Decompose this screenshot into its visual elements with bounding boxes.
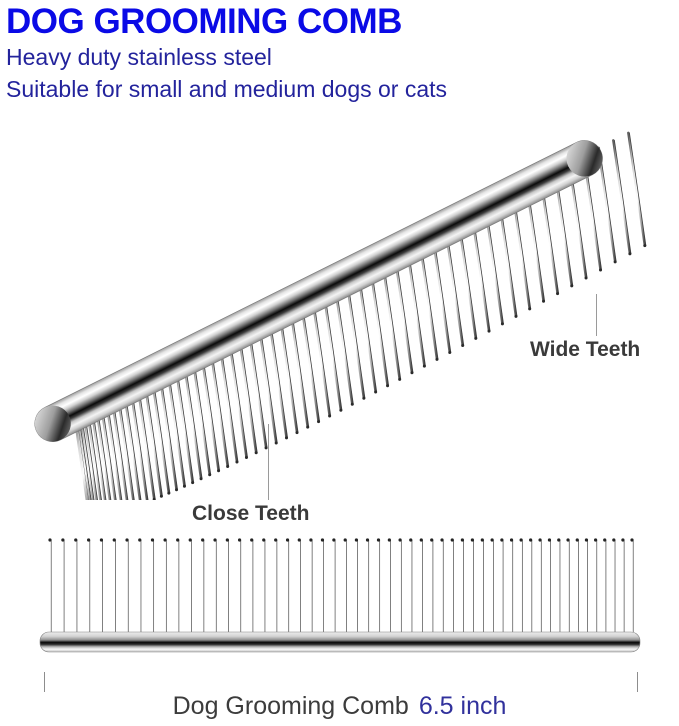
comb-tooth-tip (461, 344, 464, 347)
comb-tooth-tip (321, 538, 324, 541)
comb-tooth-tip (138, 538, 141, 541)
comb-tooth-tip (488, 330, 491, 333)
comb-tooth-tip (603, 538, 606, 541)
caption-size: 6.5 inch (419, 692, 507, 720)
comb-tooth-tip (262, 538, 265, 541)
comb-tooth-tip (594, 538, 597, 541)
comb-tooth-tip (286, 538, 289, 541)
comb-tooth-tip (250, 538, 253, 541)
caption: Dog Grooming Comb6.5 inch (0, 692, 679, 721)
size-measurement-bracket (44, 672, 638, 692)
comb-tooth-tip (208, 473, 211, 476)
comb-tooth-tip (471, 538, 474, 541)
comb-tooth-tip (344, 538, 347, 541)
comb-tooth-tip (176, 538, 179, 541)
comb-tooth-tip (621, 538, 624, 541)
bottom-comb-illustration (0, 528, 679, 673)
comb-tooth-tip (125, 538, 128, 541)
comb-tooth-tip (451, 538, 454, 541)
comb-tooth-tip (235, 461, 238, 464)
comb-tooth-tip (183, 485, 186, 488)
comb-tooth-edge (629, 133, 645, 246)
comb-tooth-tip (386, 384, 389, 387)
callout-label-close-teeth: Close Teeth (192, 502, 309, 526)
comb-tooth-tip (309, 538, 312, 541)
comb-tooth-tip (377, 538, 380, 541)
comb-tooth-tip (167, 492, 170, 495)
comb-tooth-tip (430, 538, 433, 541)
comb-tooth-tip (491, 538, 494, 541)
comb-tooth-tip (295, 431, 298, 434)
comb-tooth-tip (501, 322, 504, 325)
comb-tooth-tip (151, 538, 154, 541)
comb-tooth-tip (160, 495, 163, 498)
page-title: DOG GROOMING COMB (6, 2, 402, 42)
comb-tooth-tip (275, 441, 278, 444)
comb-tooth-tip (285, 436, 288, 439)
close-teeth-leader-line (268, 424, 269, 500)
comb-tooth-tip (557, 538, 560, 541)
comb-tooth-tip (306, 426, 309, 429)
comb-tooth-tip (191, 481, 194, 484)
comb-tooth-tip (48, 538, 51, 541)
comb-tooth-tip (585, 276, 588, 279)
comb-tooth-tip (585, 538, 588, 541)
comb-tooth-tip (339, 409, 342, 412)
comb-tooth-tip (332, 538, 335, 541)
comb-tooth-tip (226, 465, 229, 468)
comb-tooth-tip (245, 456, 248, 459)
comb-tooth-tip (542, 300, 545, 303)
comb-tooth-tip (61, 538, 64, 541)
caption-product-name: Dog Grooming Comb (173, 692, 409, 720)
diagonal-comb-illustration (0, 70, 679, 500)
comb-tooth-tip (351, 403, 354, 406)
comb-tooth-tip (538, 538, 541, 541)
product-infographic: DOG GROOMING COMB Heavy duty stainless s… (0, 0, 679, 726)
comb-tooth-tip (440, 538, 443, 541)
comb-tooth-tip (599, 268, 602, 271)
callout-label-wide-teeth: Wide Teeth (530, 338, 640, 362)
comb-tooth-tip (74, 538, 77, 541)
comb-tooth-tip (255, 451, 258, 454)
comb-tooth (628, 133, 644, 246)
comb-tooth-tip (200, 477, 203, 480)
comb-tooth-tip (398, 378, 401, 381)
subtitle-material: Heavy duty stainless steel (6, 44, 272, 70)
comb-tooth-tip (529, 538, 532, 541)
comb-tooth-edge (614, 140, 631, 253)
comb-tooth-tip (175, 488, 178, 491)
comb-tooth-tip (410, 371, 413, 374)
comb-tooth-tip (510, 538, 513, 541)
comb-tooth (613, 140, 630, 253)
comb-tooth-tip (87, 538, 90, 541)
comb-tooth-tip (201, 538, 204, 541)
comb-tooth-tip (317, 420, 320, 423)
comb-tooth-tip (374, 391, 377, 394)
comb-tooth-tip (614, 260, 617, 263)
comb-tooth-tip (355, 538, 358, 541)
comb-tooth-tip (474, 337, 477, 340)
comb-tooth-tip (520, 538, 523, 541)
comb-tooth-tip (399, 538, 402, 541)
comb-tooth-tip (226, 538, 229, 541)
comb-tooth-tip (409, 538, 412, 541)
comb-tooth-tip (612, 538, 615, 541)
comb-tooth-tip (100, 538, 103, 541)
comb-tooth-tip (435, 358, 438, 361)
comb-tooth-tip (189, 538, 192, 541)
comb-tooth-tip (570, 284, 573, 287)
comb-tooth-tip (481, 538, 484, 541)
comb-tooth-tip (461, 538, 464, 541)
comb-tooth-tip (298, 538, 301, 541)
comb-tooth-tip (643, 244, 646, 247)
comb-tooth-tip (548, 538, 551, 541)
comb-tooth-tip (366, 538, 369, 541)
comb-tooth-tip (556, 292, 559, 295)
comb-spine (29, 134, 609, 447)
comb-tooth-tip (164, 538, 167, 541)
comb-tooth-tip (514, 315, 517, 318)
comb-tooth-tip (566, 538, 569, 541)
comb-tooth-tip (238, 538, 241, 541)
comb-tooth-tip (500, 538, 503, 541)
comb-tooth-tip (274, 538, 277, 541)
comb-tooth-tip (328, 414, 331, 417)
comb-tooth-tip (448, 351, 451, 354)
comb-tooth-edge (600, 148, 617, 262)
comb-tooth-tip (630, 538, 633, 541)
wide-teeth-leader-line (596, 294, 597, 336)
comb-tooth-tip (576, 538, 579, 541)
comb-tooth-tip (388, 538, 391, 541)
comb-tooth-tip (420, 538, 423, 541)
comb-tooth-tip (217, 469, 220, 472)
bottom-comb-spine (40, 632, 640, 652)
comb-tooth-tip (528, 307, 531, 310)
comb-tooth-tip (362, 397, 365, 400)
comb-tooth-tip (213, 538, 216, 541)
comb-tooth-tip (423, 365, 426, 368)
comb-tooth-tip (113, 538, 116, 541)
comb-tooth-tip (628, 252, 631, 255)
